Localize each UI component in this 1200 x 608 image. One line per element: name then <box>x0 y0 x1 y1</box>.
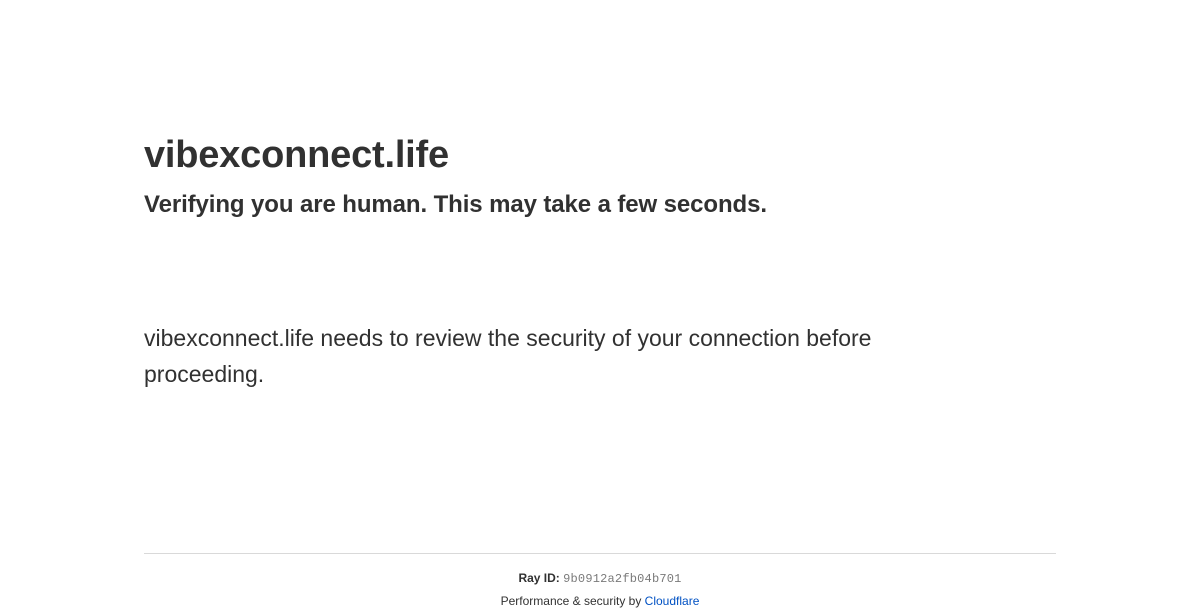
turnstile-widget-container[interactable] <box>144 220 1056 308</box>
verification-status-text: Verifying you are human. This may take a… <box>144 178 1056 220</box>
main-content: vibexconnect.life Verifying you are huma… <box>144 0 1056 392</box>
challenge-page: vibexconnect.life Verifying you are huma… <box>0 0 1200 600</box>
page-title: vibexconnect.life <box>144 0 1056 178</box>
ray-id-row: Ray ID: 9b0912a2fb04b701 <box>144 554 1056 586</box>
ray-id-value: 9b0912a2fb04b701 <box>563 572 681 586</box>
ray-id-label: Ray ID: <box>518 571 559 585</box>
footer-credit-row: Performance & security by Cloudflare <box>144 586 1056 608</box>
cloudflare-link[interactable]: Cloudflare <box>645 594 700 608</box>
footer-credit-prefix: Performance & security by <box>501 594 645 608</box>
security-review-message: vibexconnect.life needs to review the se… <box>144 308 944 392</box>
